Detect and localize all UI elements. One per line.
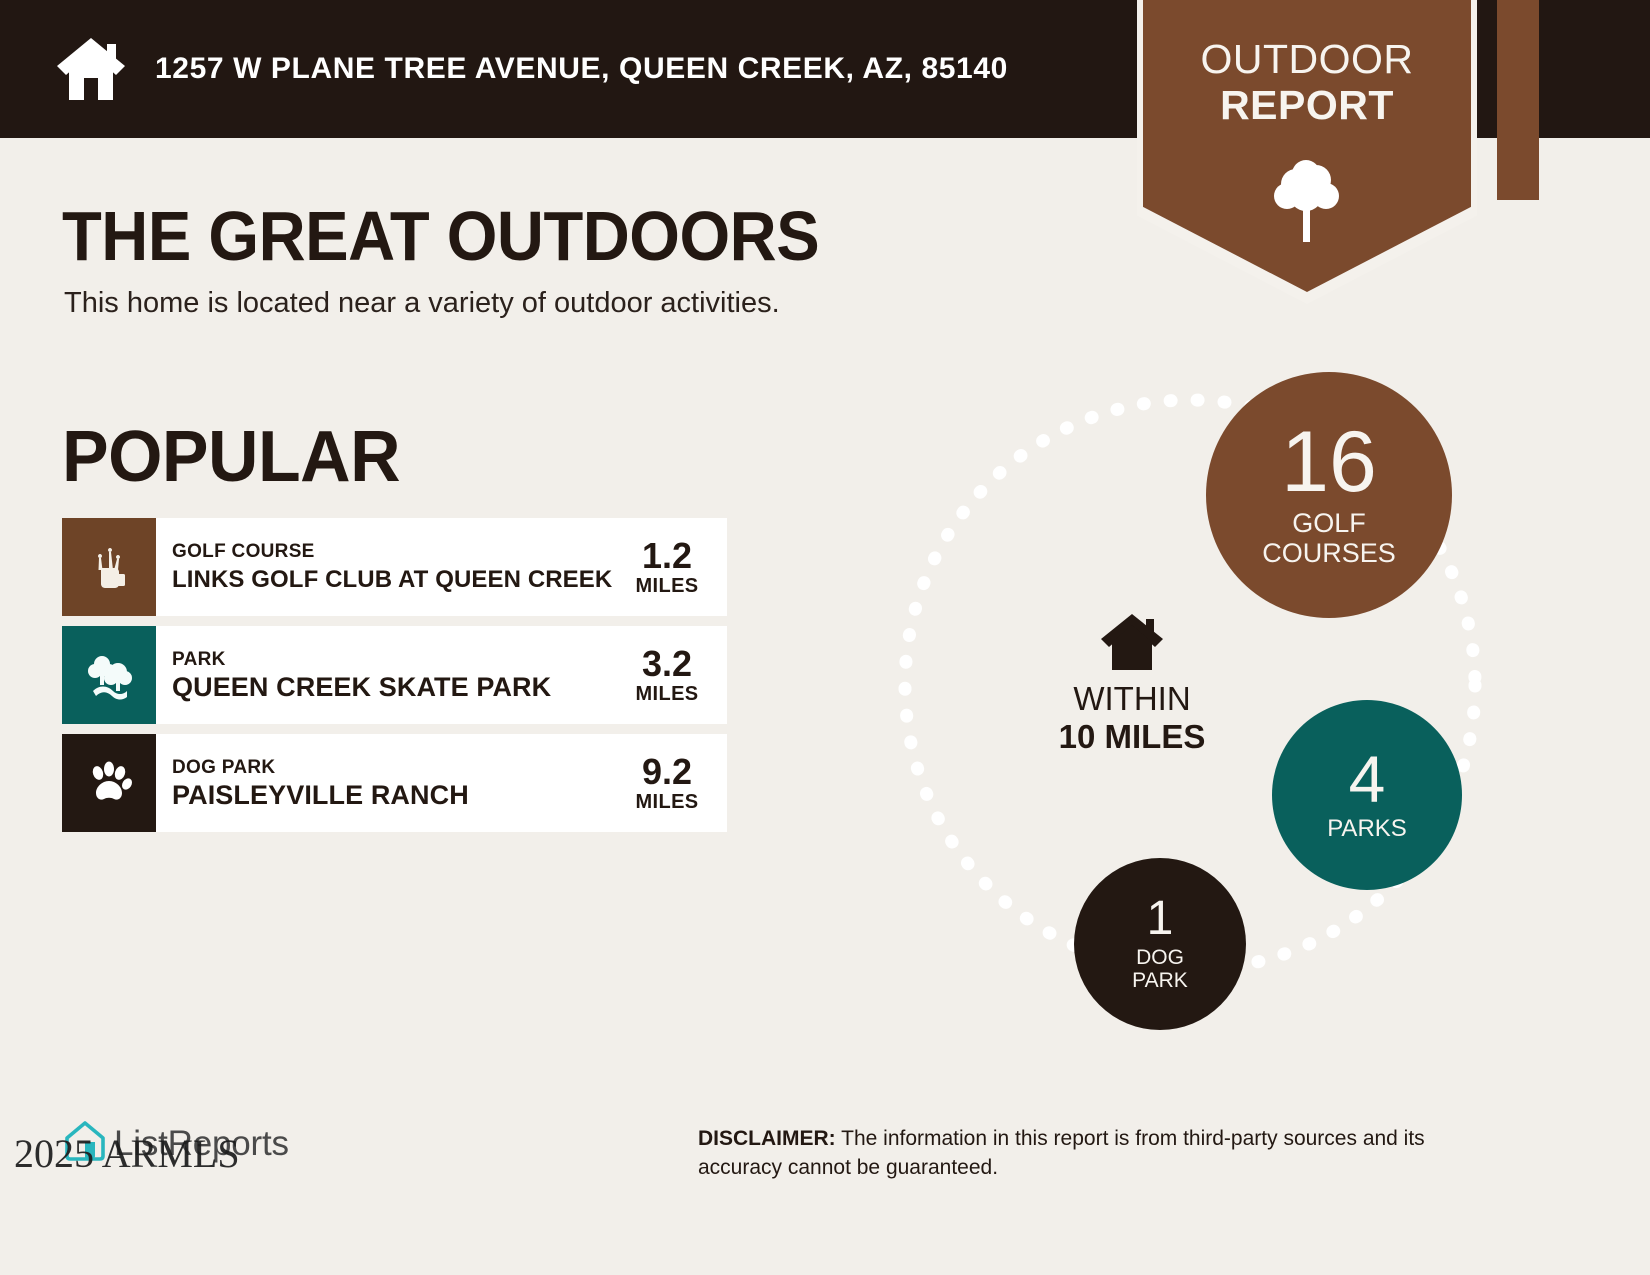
list-item-name: QUEEN CREEK SKATE PARK — [172, 672, 615, 703]
list-item-category: PARK — [172, 648, 615, 672]
distance-unit: MILES — [635, 683, 698, 706]
stat-label: GOLF COURSES — [1262, 508, 1396, 568]
badge-line-2: REPORT — [1143, 82, 1471, 128]
stat-label: DOG PARK — [1132, 946, 1188, 992]
park-trees-icon — [62, 626, 156, 724]
distance-value: 9.2 — [642, 753, 692, 791]
stat-circle-parks: 4 PARKS — [1272, 700, 1462, 890]
home-icon — [55, 36, 127, 102]
list-item-text: GOLF COURSE LINKS GOLF CLUB AT QUEEN CRE… — [156, 518, 619, 616]
golf-bag-icon — [62, 518, 156, 616]
stat-label: PARKS — [1327, 816, 1407, 842]
list-item-category: DOG PARK — [172, 756, 615, 780]
outdoor-report-page: 1257 W PLANE TREE AVENUE, QUEEN CREEK, A… — [0, 0, 1650, 1275]
list-item[interactable]: PARK QUEEN CREEK SKATE PARK 3.2 MILES — [62, 626, 727, 724]
list-item[interactable]: DOG PARK PAISLEYVILLE RANCH 9.2 MILES — [62, 734, 727, 832]
list-item-distance: 1.2 MILES — [619, 518, 727, 616]
list-item-category: GOLF COURSE — [172, 540, 615, 564]
mls-watermark: 2025 ARMLS — [14, 1130, 240, 1177]
within-radius-center: WITHIN 10 MILES — [1018, 612, 1246, 756]
within-line-2: 10 MILES — [1018, 718, 1246, 756]
page-title: THE GREAT OUTDOORS — [62, 196, 819, 276]
list-item-distance: 9.2 MILES — [619, 734, 727, 832]
page-subtitle: This home is located near a variety of o… — [64, 287, 780, 320]
list-item-text: DOG PARK PAISLEYVILLE RANCH — [156, 734, 619, 832]
disclaimer: DISCLAIMER: The information in this repo… — [698, 1124, 1508, 1182]
stat-value: 1 — [1147, 896, 1174, 942]
distance-unit: MILES — [635, 791, 698, 814]
badge-side-strip — [1497, 0, 1539, 200]
property-address: 1257 W PLANE TREE AVENUE, QUEEN CREEK, A… — [155, 52, 1008, 86]
distance-value: 1.2 — [642, 537, 692, 575]
list-item-name: PAISLEYVILLE RANCH — [172, 780, 615, 811]
badge-title: OUTDOOR REPORT — [1143, 36, 1471, 128]
list-item[interactable]: GOLF COURSE LINKS GOLF CLUB AT QUEEN CRE… — [62, 518, 727, 616]
header-content: 1257 W PLANE TREE AVENUE, QUEEN CREEK, A… — [55, 0, 1008, 138]
tree-icon — [1272, 158, 1342, 244]
list-item-name: LINKS GOLF CLUB AT QUEEN CREEK — [172, 564, 615, 595]
paw-print-icon — [62, 734, 156, 832]
stat-circle-dog-park: 1 DOG PARK — [1074, 858, 1246, 1030]
stat-value: 4 — [1349, 748, 1386, 810]
distance-value: 3.2 — [642, 645, 692, 683]
disclaimer-label: DISCLAIMER: — [698, 1127, 836, 1150]
badge-line-1: OUTDOOR — [1143, 36, 1471, 82]
popular-list: GOLF COURSE LINKS GOLF CLUB AT QUEEN CRE… — [62, 518, 727, 842]
distance-unit: MILES — [635, 575, 698, 598]
home-icon — [1018, 612, 1246, 672]
within-line-1: WITHIN — [1018, 680, 1246, 718]
list-item-distance: 3.2 MILES — [619, 626, 727, 724]
stat-circle-golf-courses: 16 GOLF COURSES — [1206, 372, 1452, 618]
section-title-popular: POPULAR — [62, 416, 400, 498]
stat-value: 16 — [1281, 422, 1377, 502]
list-item-text: PARK QUEEN CREEK SKATE PARK — [156, 626, 619, 724]
